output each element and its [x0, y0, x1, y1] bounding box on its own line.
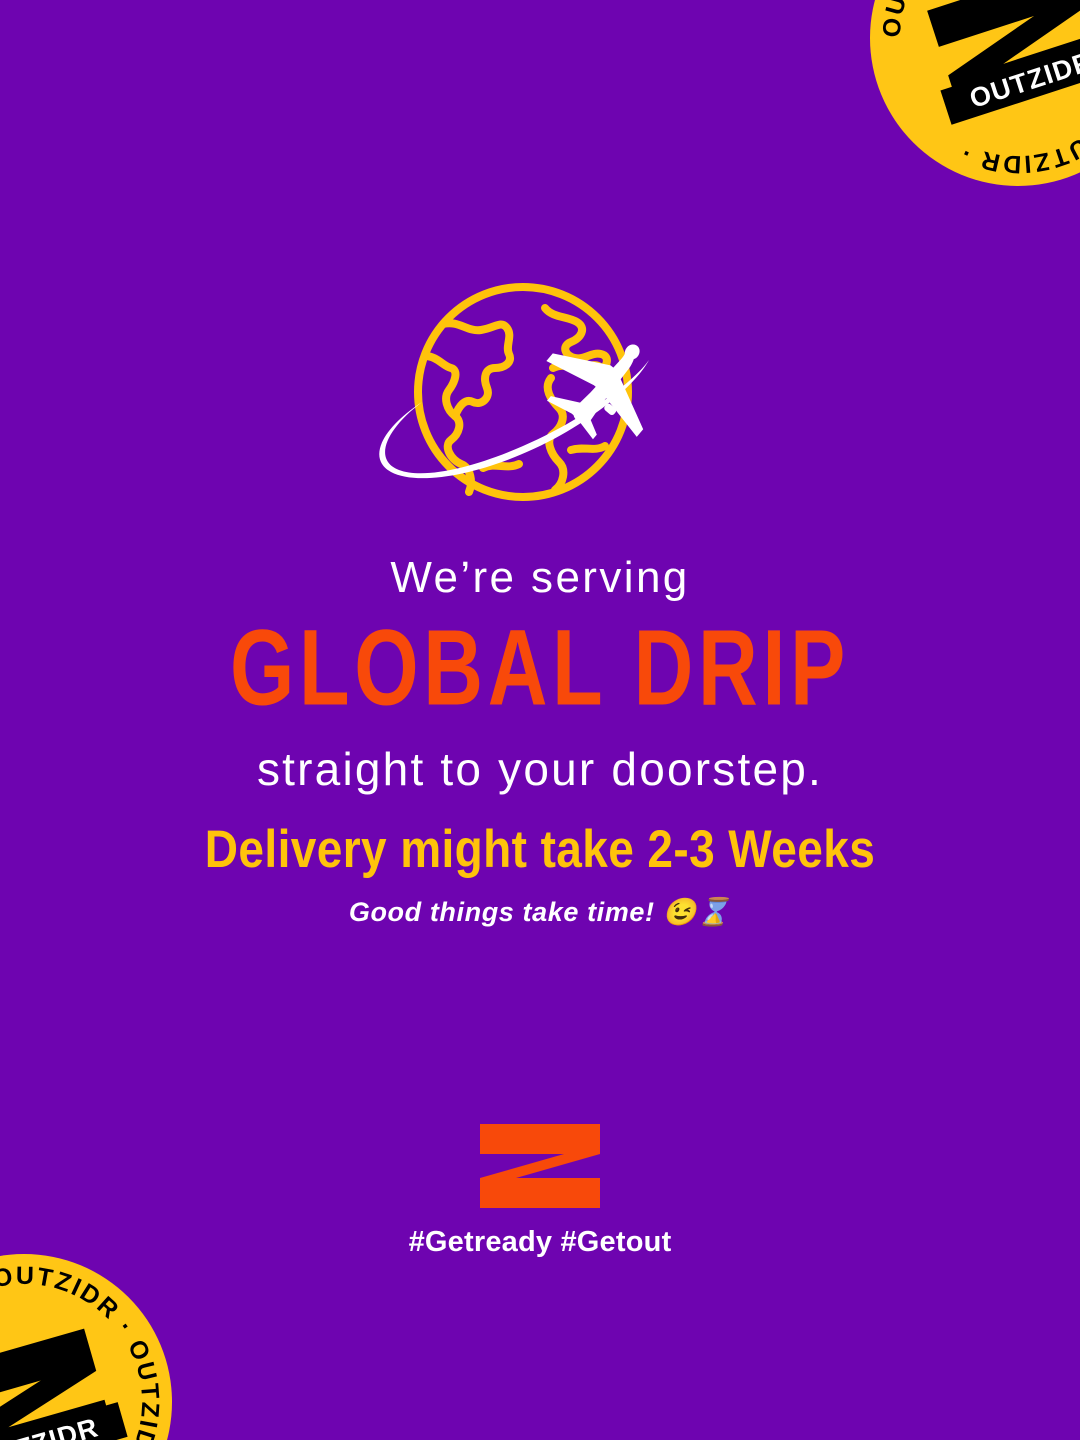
headline-line-3: straight to your doorstep.	[0, 742, 1080, 796]
footer-block: #Getready #Getout	[0, 1122, 1080, 1259]
headline-block: We’re serving GLOBAL DRIP straight to yo…	[0, 552, 1080, 796]
footer-hashtags: #Getready #Getout	[0, 1226, 1080, 1259]
outzidr-badge-bottom-left: OUTZIDR · OUTZIDR · OUTZIDR · OUTZIDR · …	[0, 1252, 174, 1440]
delivery-subtext: Good things take time! 😉⌛	[0, 896, 1080, 928]
outzidr-badge-top-right: OUTZIDR · OUTZIDR · OUTZIDR · OUTZIDR · …	[868, 0, 1080, 188]
poster-canvas: OUTZIDR · OUTZIDR · OUTZIDR · OUTZIDR · …	[0, 0, 1080, 1440]
headline-line-1: We’re serving	[0, 552, 1080, 604]
headline-line-2: GLOBAL DRIP	[32, 604, 1047, 731]
outzidr-z-logo	[478, 1122, 602, 1210]
delivery-notice-block: Delivery might take 2-3 Weeks Good thing…	[0, 822, 1080, 928]
globe-airplane-illustration	[355, 272, 715, 517]
delivery-notice: Delivery might take 2-3 Weeks	[0, 818, 1080, 880]
